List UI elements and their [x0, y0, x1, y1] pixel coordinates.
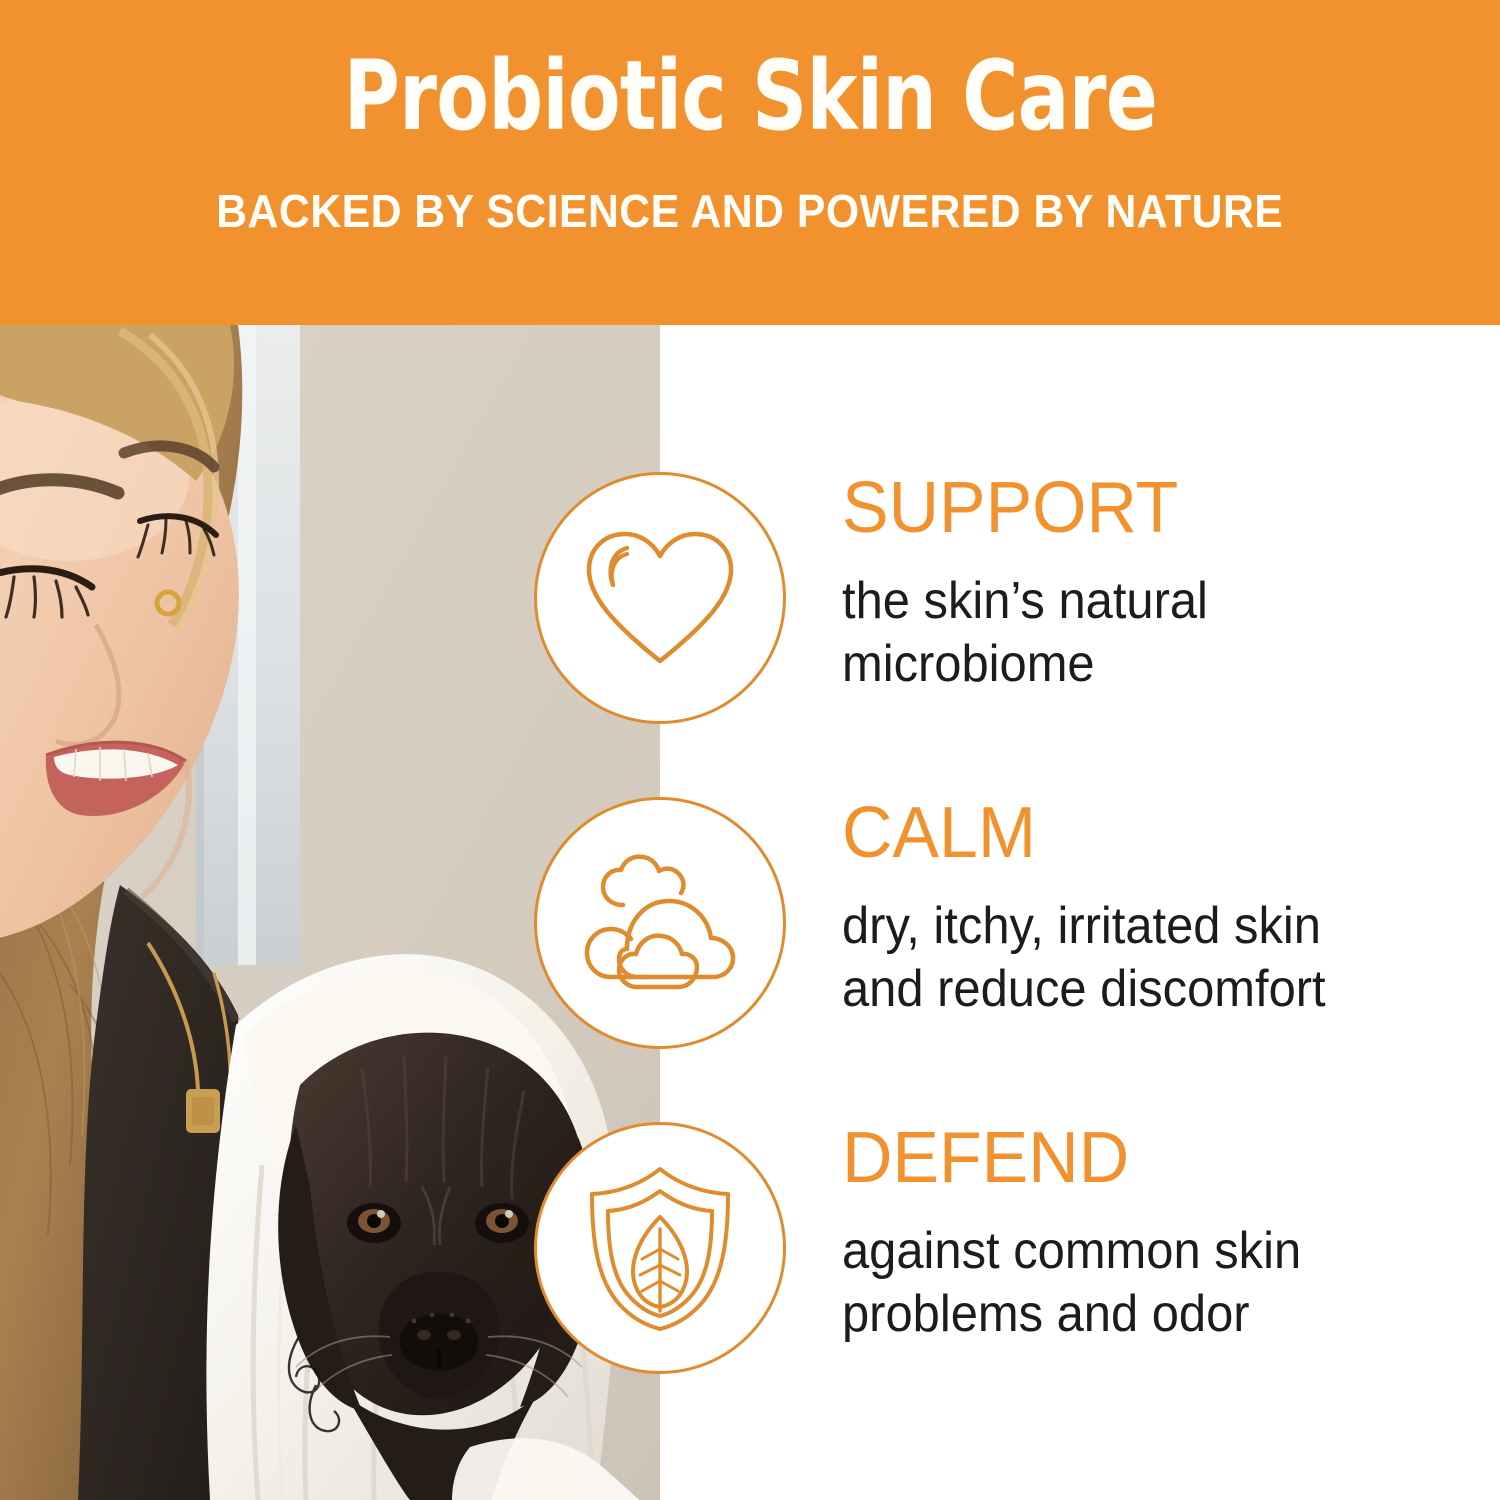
feature-body: dry, itchy, irritated skin and reduce di… [842, 895, 1434, 1022]
feature-body-line: against common skin [842, 1220, 1434, 1283]
clouds-icon [534, 797, 786, 1049]
page-title: Probiotic Skin Care [343, 48, 1156, 144]
header-banner: Probiotic Skin Care BACKED BY SCIENCE AN… [0, 0, 1500, 325]
feature-text-support: SUPPORT the skin’s natural microbiome [842, 472, 1472, 697]
promo-graphic: Probiotic Skin Care BACKED BY SCIENCE AN… [0, 0, 1500, 1500]
feature-body-line: problems and odor [842, 1283, 1434, 1346]
heart-icon [534, 472, 786, 724]
feature-heading: DEFEND [842, 1122, 1453, 1194]
feature-body: the skin’s natural microbiome [842, 570, 1434, 697]
feature-text-defend: DEFEND against common skin problems and … [842, 1122, 1472, 1347]
feature-body-line: dry, itchy, irritated skin [842, 895, 1434, 958]
shield-leaf-icon [534, 1122, 786, 1374]
feature-text-calm: CALM dry, itchy, irritated skin and redu… [842, 797, 1472, 1022]
feature-heading: CALM [842, 797, 1453, 869]
feature-body-line: microbiome [842, 633, 1434, 696]
feature-heading: SUPPORT [842, 472, 1453, 544]
feature-body-line: the skin’s natural [842, 570, 1434, 633]
feature-body: against common skin problems and odor [842, 1220, 1434, 1347]
feature-list: SUPPORT the skin’s natural microbiome [0, 325, 1500, 1500]
feature-body-line: and reduce discomfort [842, 958, 1434, 1021]
page-subtitle: BACKED BY SCIENCE AND POWERED BY NATURE [216, 184, 1283, 238]
